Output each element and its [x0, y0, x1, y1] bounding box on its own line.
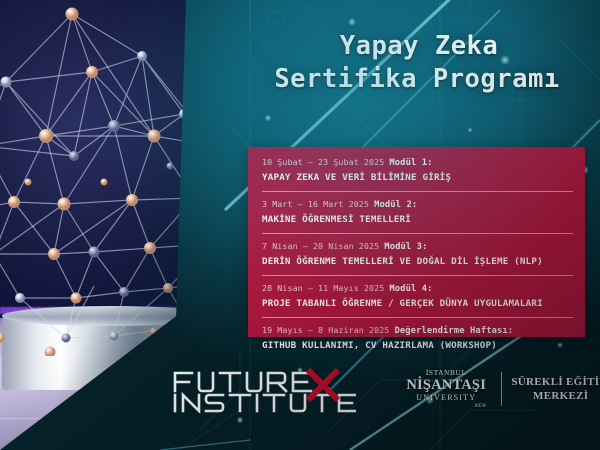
- schedule-row-topic: MAKİNE ÖĞRENMESİ TEMELLERİ: [262, 212, 573, 227]
- schedule-row-dates: 10 Şubat – 23 Şubat 2025 Modül 1:: [262, 156, 573, 170]
- schedule-row-topic: DERİN ÖĞRENME TEMELLERİ VE DOĞAL DİL İŞL…: [262, 254, 573, 269]
- poster-canvas: Yapay Zeka Sertifika Programı 10 Şubat –…: [0, 0, 600, 450]
- schedule-row-dates: 19 Mayıs – 8 Haziran 2025 Değerlendirme …: [262, 324, 573, 338]
- nisantasi-university-logo: İSTANBUL NİŞANTAŞI UNIVERSITY NEW: [400, 368, 492, 410]
- future-institute-logo: [170, 367, 356, 413]
- poster-title: Yapay Zeka Sertifika Programı: [238, 30, 600, 96]
- university-line-top: İSTANBUL: [400, 368, 492, 377]
- schedule-row-module: Değerlendirme Haftası:: [394, 326, 513, 336]
- university-line-bottom: UNIVERSITY: [400, 393, 492, 403]
- schedule-row: 10 Şubat – 23 Şubat 2025 Modül 1:YAPAY Z…: [262, 156, 585, 185]
- schedule-row-module: Modül 3:: [384, 242, 427, 252]
- schedule-row-divider: [262, 317, 573, 318]
- title-line-2: Sertifika Programı: [234, 63, 600, 96]
- schedule-row: 3 Mart – 16 Mart 2025 Modül 2:MAKİNE ÖĞR…: [262, 198, 585, 227]
- partner-logos: İSTANBUL NİŞANTAŞI UNIVERSITY NEW SÜREKL…: [400, 365, 600, 413]
- schedule-row-dates: 28 Nisan – 11 Mayıs 2025 Modül 4:: [262, 282, 573, 296]
- title-line-1: Yapay Zeka: [340, 31, 499, 61]
- schedule-row-dates: 7 Nisan – 20 Nisan 2025 Modül 3:: [262, 240, 573, 254]
- university-line-mid: NİŞANTAŞI: [400, 377, 492, 393]
- schedule-row: 19 Mayıs – 8 Haziran 2025 Değerlendirme …: [262, 324, 585, 353]
- schedule-row-divider: [262, 275, 573, 276]
- schedule-row-module: Modül 1:: [389, 158, 432, 168]
- schedule-row: 7 Nisan – 20 Nisan 2025 Modül 3:DERİN ÖĞ…: [262, 240, 585, 269]
- center-line-2: MERKEZİ: [511, 389, 600, 403]
- schedule-row-divider: [262, 233, 573, 234]
- center-line-1: SÜREKLİ EĞİTİM: [511, 375, 600, 389]
- schedule-row-topic: PROJE TABANLI ÖĞRENME / GERÇEK DÜNYA UYG…: [262, 296, 573, 311]
- schedule-row-divider: [262, 191, 573, 192]
- schedule-panel: 10 Şubat – 23 Şubat 2025 Modül 1:YAPAY Z…: [248, 147, 585, 337]
- continuing-education-center-logo: SÜREKLİ EĞİTİM MERKEZİ: [511, 375, 600, 403]
- schedule-row-topic: YAPAY ZEKA VE VERİ BİLİMİNE GİRİŞ: [262, 170, 573, 185]
- university-line-sub: NEW: [400, 403, 492, 410]
- schedule-list: 10 Şubat – 23 Şubat 2025 Modül 1:YAPAY Z…: [248, 147, 585, 353]
- schedule-row-dates: 3 Mart – 16 Mart 2025 Modül 2:: [262, 198, 573, 212]
- schedule-row: 28 Nisan – 11 Mayıs 2025 Modül 4:PROJE T…: [262, 282, 585, 311]
- schedule-row-module: Modül 2:: [374, 200, 417, 210]
- logo-divider: [501, 372, 502, 406]
- schedule-row-topic: GITHUB KULLANIMI, CV HAZIRLAMA (WORKSHOP…: [262, 338, 573, 353]
- schedule-row-module: Modül 4:: [389, 284, 432, 294]
